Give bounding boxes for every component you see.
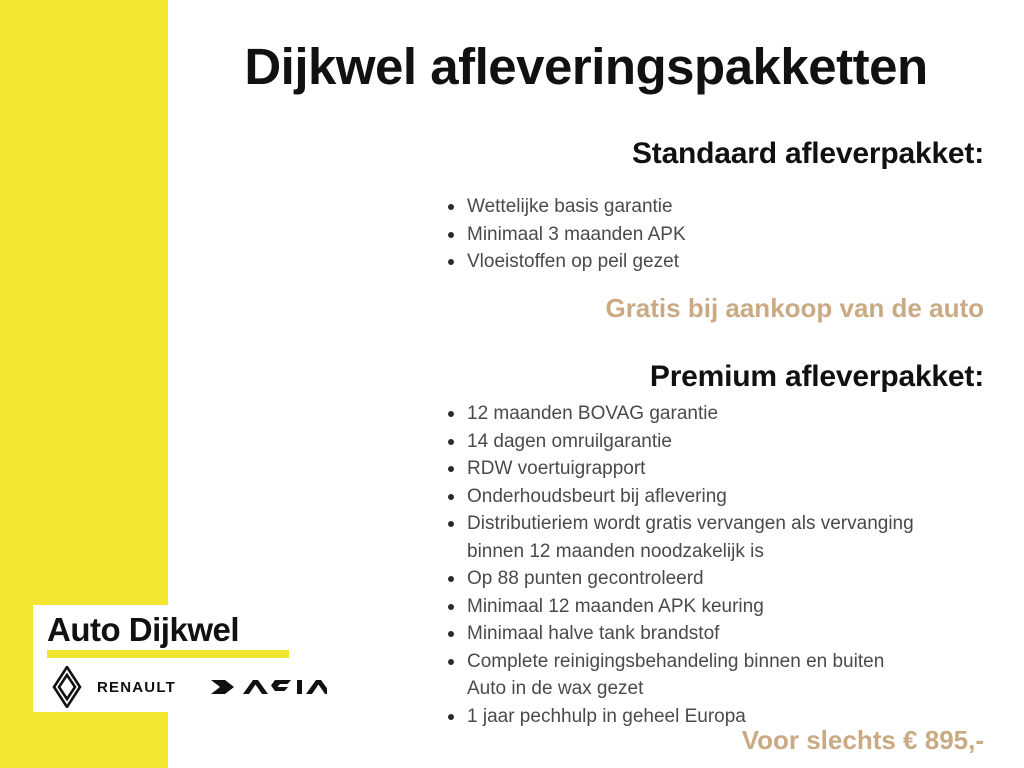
list-item: Wettelijke basis garantie [441,193,1001,221]
dealer-logo: Auto Dijkwel RENAULT [33,605,295,712]
list-item: Complete reinigingsbehandeling binnen en… [441,648,1001,703]
list-item: 12 maanden BOVAG garantie [441,400,1001,428]
brand-logos-row: RENAULT [43,665,293,709]
premium-feature-list: 12 maanden BOVAG garantie 14 dagen omrui… [441,400,1001,730]
standaard-price-note: Gratis bij aankoop van de auto [605,292,984,324]
list-item-label-continued: Auto in de wax gezet [467,675,1001,703]
list-item: Minimaal halve tank brandstof [441,620,1001,648]
list-item-label: Onderhoudsbeurt bij aflevering [467,486,727,507]
standaard-feature-list: Wettelijke basis garantie Minimaal 3 maa… [441,193,1001,276]
list-item: 14 dagen omruilgarantie [441,428,1001,456]
poster-canvas: Dijkwel afleveringspakketten Standaard a… [0,0,1024,768]
list-item-label: 1 jaar pechhulp in geheel Europa [467,706,746,727]
list-item-label: Op 88 punten gecontroleerd [467,568,704,589]
list-item: Op 88 punten gecontroleerd [441,565,1001,593]
list-item-label: Minimaal 12 maanden APK keuring [467,596,764,617]
renault-diamond-icon [47,666,87,713]
list-item-label: 14 dagen omruilgarantie [467,431,672,452]
renault-wordmark: RENAULT [97,679,176,696]
list-item-label: Wettelijke basis garantie [467,196,673,217]
list-item-label: Minimaal 3 maanden APK [467,224,686,245]
list-item: RDW voertuigrapport [441,455,1001,483]
list-item-label: Minimaal halve tank brandstof [467,623,719,644]
premium-section-heading: Premium afleverpakket: [650,359,984,395]
dealer-logo-wordmark: Auto Dijkwel [47,611,239,649]
list-item-label-continued: binnen 12 maanden noodzakelijk is [467,538,1001,566]
list-item: Minimaal 12 maanden APK keuring [441,593,1001,621]
list-item: Vloeistoffen op peil gezet [441,248,1001,276]
list-item-label: Vloeistoffen op peil gezet [467,251,679,272]
standaard-section-heading: Standaard afleverpakket: [632,136,984,172]
list-item: Onderhoudsbeurt bij aflevering [441,483,1001,511]
list-item-label: Distributieriem wordt gratis vervangen a… [467,513,914,534]
list-item: Distributieriem wordt gratis vervangen a… [441,510,1001,565]
dealer-logo-underline-bar [47,650,289,658]
page-title: Dijkwel afleveringspakketten [186,38,986,96]
list-item: Minimaal 3 maanden APK [441,221,1001,249]
list-item-label: 12 maanden BOVAG garantie [467,403,718,424]
premium-price-note: Voor slechts € 895,- [742,724,984,756]
list-item-label: Complete reinigingsbehandeling binnen en… [467,651,884,672]
dacia-wordmark-icon [211,677,327,702]
list-item-label: RDW voertuigrapport [467,458,645,479]
